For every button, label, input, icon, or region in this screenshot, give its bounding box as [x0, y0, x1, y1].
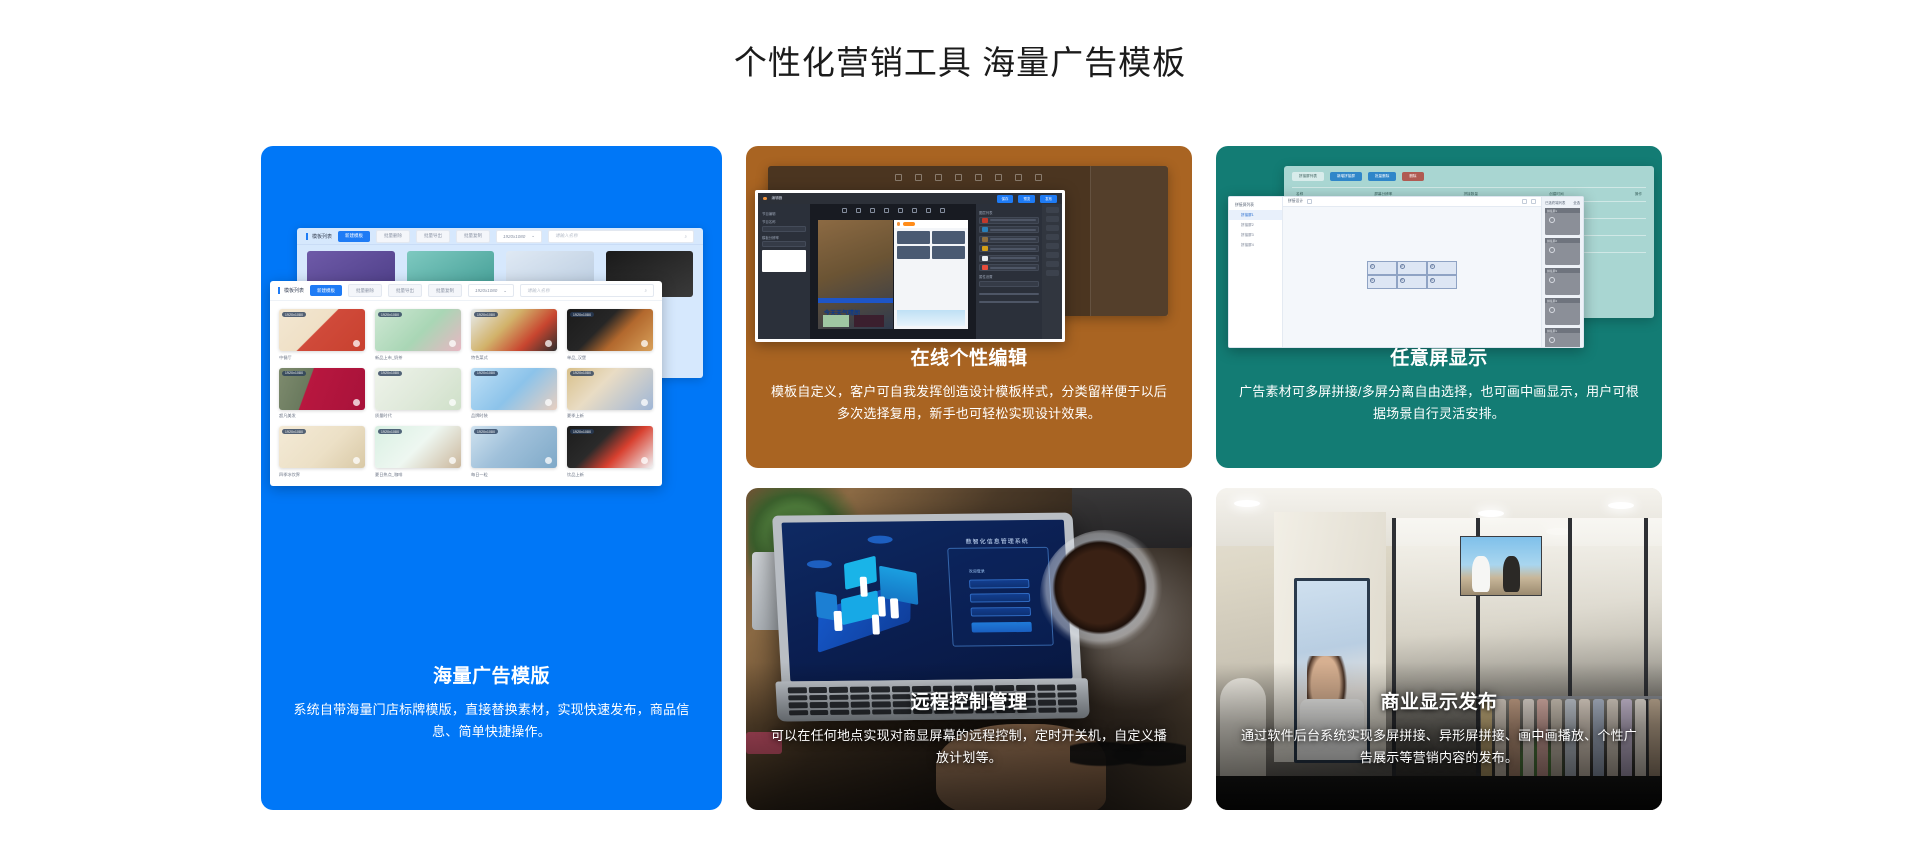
template-item[interactable]: 1920x1080 夏季上新: [567, 368, 653, 420]
layer-thumb: [982, 218, 988, 223]
editor-tool-row: [810, 204, 976, 217]
terminal-panel-header: 已选终端列表 全选: [1545, 200, 1580, 205]
template-name: 特色菜式: [471, 355, 557, 361]
thumb-badge: [449, 399, 456, 406]
login-submit-button[interactable]: [972, 622, 1033, 633]
template-item[interactable]: 1920x1080 夏日热点_咖啡: [375, 426, 461, 478]
template-thumbnail[interactable]: 1920x1080: [471, 368, 557, 410]
template-name: 每日一粒: [471, 472, 557, 478]
canvas-title: 拼接设计: [1288, 199, 1303, 204]
tree-item[interactable]: 拼接屏3: [1229, 230, 1282, 240]
batch-export-button[interactable]: 批量导出: [388, 284, 422, 297]
card-remote-control[interactable]: 数智化信息管理系统 欢迎登录: [746, 488, 1192, 810]
clock-icon: [995, 174, 1002, 181]
lock-icon[interactable]: [1046, 243, 1059, 249]
thumb-tag: 1920x1080: [474, 312, 498, 317]
divider: [1292, 187, 1646, 188]
splice-tile[interactable]: 4: [1367, 275, 1397, 289]
tree-title: 拼接屏列表: [1229, 201, 1282, 210]
illustration-person: [890, 598, 899, 618]
editor-publish-button[interactable]: 发布: [1040, 195, 1057, 203]
terminal-number-icon: [1549, 307, 1555, 313]
web-preview-grid: [894, 228, 969, 262]
property-select[interactable]: [979, 281, 1039, 287]
back-toolbar: 拼接屏列表 新增拼接屏 批量删除 删除: [1292, 172, 1646, 181]
shape-icon: [895, 174, 902, 181]
splice-tile[interactable]: 1: [1367, 261, 1397, 275]
layer-thumb: [982, 237, 988, 242]
select-all-toggle[interactable]: 全选: [1573, 200, 1580, 205]
property-slider-1[interactable]: [979, 293, 1039, 295]
terminal-card-bar: 拼接屏3: [1545, 268, 1580, 273]
terminal-card-bar: 拼接屏1: [1545, 328, 1580, 333]
card-description: 通过软件后台系统实现多屏拼接、异形屏拼接、画中画播放、个性广告展示等营销内容的发…: [1238, 725, 1640, 771]
terminal-card-bar: 拼接屏4: [1545, 298, 1580, 303]
back-batch-delete-button[interactable]: 批量删除: [376, 230, 410, 243]
account-field[interactable]: [969, 579, 1030, 589]
layer-row[interactable]: [979, 217, 1039, 224]
template-name: 中餐厅: [279, 355, 365, 361]
thumb-badge: [641, 399, 648, 406]
template-thumbnail[interactable]: 1920x1080: [567, 309, 653, 351]
undo-icon[interactable]: [1046, 261, 1059, 267]
layer-row[interactable]: [979, 264, 1039, 271]
template-thumbnail[interactable]: 1920x1080: [279, 426, 365, 468]
template-name: 单品_汉堡: [567, 355, 653, 361]
web-cell: [932, 231, 965, 244]
thumb-badge: [545, 340, 552, 347]
splice-tile[interactable]: 3: [1427, 261, 1457, 275]
field-label-resolution: 模板分辨率: [762, 235, 806, 240]
ceiling-light: [1608, 502, 1634, 509]
text-icon: [955, 174, 962, 181]
card-title: 商业显示发布: [1238, 689, 1640, 718]
login-form-title: 欢迎登录: [969, 568, 1029, 575]
template-thumbnail[interactable]: 1920x1080: [279, 368, 365, 410]
web-cell: [897, 246, 930, 259]
search-input[interactable]: 请输入名称⌕: [520, 284, 654, 297]
card-mass-ad-templates[interactable]: 模板列表 新建模板 批量删除 批量导出 批量复制 1920x1080⌄ 请输入名…: [261, 146, 722, 810]
terminal-card-bar: 拼接屏2: [1545, 238, 1580, 243]
splice-canvas-panel[interactable]: 拼接设计 1 2 3 4 5 6: [1283, 197, 1541, 347]
back-panel-title: 模板列表: [306, 233, 332, 240]
thumb-badge: [353, 457, 360, 464]
program-name-input[interactable]: [762, 226, 806, 232]
layer-name: [990, 219, 1036, 221]
back-resolution-select[interactable]: 1920x1080⌄: [496, 230, 542, 243]
web-cell: [932, 246, 965, 259]
template-gallery-front-window: 模板列表 新建模板 批量删除 批量导出 批量复制 1920x1080⌄ 请输入名…: [270, 281, 662, 486]
layer-name: [990, 229, 1036, 231]
terminal-number-icon: [1549, 247, 1555, 253]
coffee-cup: [1040, 530, 1170, 660]
canvas-photo-2: [854, 315, 884, 327]
card-caption: 在线个性编辑 模板自定义，客户可自我发挥创造设计模板样式，分类留样便于以后多次选…: [746, 345, 1192, 426]
splice-tile[interactable]: 5: [1397, 275, 1427, 289]
back-window-toolbar: 模板列表 新建模板 批量删除 批量导出 批量复制 1920x1080⌄ 请输入名…: [297, 228, 703, 245]
splice-tile-grid[interactable]: 1 2 3 4 5 6: [1367, 261, 1457, 289]
thumb-badge: [641, 457, 648, 464]
editor-save-button[interactable]: 保存: [997, 195, 1014, 203]
template-thumbnail[interactable]: 1920x1080: [471, 309, 557, 351]
editor-app: 编辑器 保存 预览 发布 节目编辑 节目名称 模板分辨率: [758, 193, 1062, 339]
weather-icon: [1015, 174, 1022, 181]
tree-item[interactable]: 拼接屏2: [1229, 220, 1282, 230]
illustration-person: [859, 577, 868, 597]
login-form[interactable]: 欢迎登录: [947, 547, 1054, 646]
template-item[interactable]: 1920x1080 新品上市_奶茶: [375, 309, 461, 361]
thumb-tag: 1920x1080: [570, 312, 594, 317]
thumb-badge: [545, 457, 552, 464]
terminal-number-icon: [1549, 217, 1555, 223]
web-preview-header: [894, 220, 969, 228]
template-thumbnail[interactable]: 1920x1080: [375, 309, 461, 351]
card-description: 广告素材可多屏拼接/多屏分离自由选择，也可画中画显示，用户可根据场景自行灵活安排…: [1238, 381, 1640, 427]
feature-card-grid: 模板列表 新建模板 批量删除 批量导出 批量复制 1920x1080⌄ 请输入名…: [261, 146, 1662, 810]
image-icon: [935, 174, 942, 181]
layer-thumb: [982, 265, 988, 270]
select-tool-icon[interactable]: [842, 208, 847, 213]
align-left-icon[interactable]: [1046, 207, 1059, 213]
thumb-tag: 1920x1080: [570, 429, 594, 434]
splice-tree-panel: 拼接屏列表 拼接屏1 拼接屏2 拼接屏3 拼接屏4: [1229, 197, 1283, 347]
terminal-card[interactable]: 拼接屏3: [1545, 268, 1580, 295]
card-caption: 商业显示发布 通过软件后台系统实现多屏拼接、异形屏拼接、画中画播放、个性广告展示…: [1216, 689, 1662, 770]
back-batch-export-button[interactable]: 批量导出: [416, 230, 450, 243]
template-thumbnail[interactable]: 1920x1080: [567, 426, 653, 468]
web-preview-footer: [897, 310, 966, 326]
template-item[interactable]: 1920x1080 质量时代: [375, 368, 461, 420]
card-caption: 远程控制管理 可以在任何地点实现对商显屏幕的远程控制，定时开关机，自定义播放计划…: [746, 689, 1192, 770]
laptop-screen: 数智化信息管理系统 欢迎登录: [782, 520, 1073, 682]
banner-model-light: [1472, 556, 1490, 592]
terminal-card-label: 拼接屏3: [1547, 269, 1557, 273]
card-online-editor[interactable]: 编辑器 保存 预览 发布 节目编辑 节目名称 模板分辨率: [746, 146, 1192, 468]
editor-front-window: 编辑器 保存 预览 发布 节目编辑 节目名称 模板分辨率: [755, 190, 1065, 342]
splice-tile[interactable]: 6: [1427, 275, 1457, 289]
distribute-icon[interactable]: [1046, 234, 1059, 240]
layer-thumb: [982, 227, 988, 232]
field-label-program-name: 节目名称: [762, 219, 806, 224]
web-cell: [897, 231, 930, 244]
card-caption: 海量广告模版 系统自带海量门店标牌模版，直接替换素材，实现快速发布，商品信息、简…: [261, 663, 722, 744]
editor-back-sidebar: [1090, 166, 1168, 316]
layer-thumb: [982, 246, 988, 251]
redo-icon[interactable]: [1046, 270, 1059, 276]
clock-tool-icon[interactable]: [912, 208, 917, 213]
terminal-card-label: 拼接屏2: [1547, 239, 1557, 243]
overhead-signage-banner: [1460, 536, 1542, 596]
text-tool-icon[interactable]: [884, 208, 889, 213]
template-name: 四季冰饮界: [279, 472, 365, 478]
thumb-badge: [353, 399, 360, 406]
tree-item[interactable]: 拼接屏4: [1229, 240, 1282, 250]
thumb-badge: [641, 340, 648, 347]
video-tool-icon[interactable]: [898, 208, 903, 213]
thumb-badge: [353, 340, 360, 347]
terminal-card-label: 拼接屏4: [1547, 299, 1557, 303]
template-thumbnail[interactable]: 1920x1080: [279, 309, 365, 351]
template-item[interactable]: 1920x1080 四季冰饮界: [279, 426, 365, 478]
left-panel-title: 节目编辑: [762, 211, 806, 216]
card-any-screen-display[interactable]: 拼接屏列表 新增拼接屏 批量删除 删除 名称 屏幕分辨率 拼接数量 创建时间 操…: [1216, 146, 1662, 468]
new-template-button[interactable]: 新建模板: [310, 285, 342, 296]
editor-far-panel: [1042, 204, 1062, 339]
star-icon: [915, 174, 922, 181]
template-item[interactable]: 1920x1080 单品_汉堡: [567, 309, 653, 361]
template-item[interactable]: 1920x1080 超凡美发: [279, 368, 365, 420]
illustration-person: [834, 611, 843, 631]
template-item[interactable]: 1920x1080 中餐厅: [279, 309, 365, 361]
card-description: 可以在任何地点实现对商显屏幕的远程控制，定时开关机，自定义播放计划等。: [768, 725, 1170, 771]
editor-titlebar: 编辑器 保存 预览 发布: [758, 193, 1062, 204]
card-title: 任意屏显示: [1238, 345, 1640, 374]
splice-tile[interactable]: 2: [1397, 261, 1427, 275]
template-thumbnail[interactable]: 1920x1080: [375, 426, 461, 468]
isometric-illustration: [806, 553, 936, 653]
front-panel-title: 模板列表: [278, 287, 304, 294]
template-name: 新品上市_奶茶: [375, 355, 461, 361]
thumb-tag: 1920x1080: [570, 371, 594, 376]
tile-number: 2: [1400, 264, 1405, 269]
delete-icon[interactable]: [1531, 199, 1536, 204]
selected-terminal-panel: 已选终端列表 全选 拼接屏1 拼接屏2 拼接屏3 拼接屏4 拼接屏1: [1541, 197, 1583, 347]
ceiling-light: [1234, 500, 1260, 507]
canvas-web-preview[interactable]: [894, 220, 969, 329]
layer-name: [990, 267, 1036, 269]
web-pill: [903, 222, 915, 226]
tree-item[interactable]: 拼接屏1: [1229, 210, 1282, 220]
back-new-template-button[interactable]: 新建模板: [338, 231, 370, 242]
delete-button[interactable]: 删除: [1402, 172, 1423, 181]
card-title: 海量广告模版: [283, 663, 700, 692]
thumb-tag: 1920x1080: [378, 312, 402, 317]
terminal-number-icon: [1549, 337, 1555, 343]
template-name: 夏季上新: [567, 413, 653, 419]
thumb-tag: 1920x1080: [282, 371, 306, 376]
front-window-toolbar: 模板列表 新建模板 批量删除 批量导出 批量复制 1920x1080⌄ 请输入名…: [270, 281, 662, 301]
thumb-tag: 1920x1080: [378, 371, 402, 376]
resolution-select[interactable]: [762, 241, 806, 247]
layer-row[interactable]: [979, 255, 1039, 262]
terminal-number-icon: [1549, 277, 1555, 283]
thumbnail-preview: [762, 250, 806, 272]
thumb-badge: [449, 340, 456, 347]
editor-canvas[interactable]: 今天天气晴朗: [818, 220, 968, 329]
property-slider-2[interactable]: [979, 301, 1039, 303]
thumb-tag: 1920x1080: [474, 429, 498, 434]
canvas-strip: [818, 298, 893, 303]
layout-icon[interactable]: [1307, 199, 1312, 204]
banner-model-dark: [1503, 556, 1521, 592]
editor-body: 节目编辑 节目名称 模板分辨率: [758, 204, 1062, 339]
batch-delete-button[interactable]: 批量删除: [348, 284, 382, 297]
card-description: 模板自定义，客户可自我发挥创造设计模板样式，分类留样便于以后多次选择复用，新手也…: [768, 381, 1170, 427]
terminal-card[interactable]: 拼接屏2: [1545, 238, 1580, 265]
thumb-tag: 1920x1080: [282, 429, 306, 434]
weather-tool-icon[interactable]: [926, 208, 931, 213]
web-tool-icon[interactable]: [940, 208, 945, 213]
col-actions: 操作: [1635, 192, 1642, 197]
layer-row[interactable]: [979, 236, 1039, 243]
editor-layers-panel: 图层列表 属性设置: [976, 204, 1042, 339]
image-tool-icon[interactable]: [870, 208, 875, 213]
template-item[interactable]: 1920x1080 每日一粒: [471, 426, 557, 478]
splice-front-window: 拼接屏列表 拼接屏1 拼接屏2 拼接屏3 拼接屏4 拼接设计 1: [1228, 196, 1584, 348]
tile-number: 4: [1370, 278, 1375, 283]
thumb-tag: 1920x1080: [474, 371, 498, 376]
canvas-toolbar: 拼接设计: [1283, 197, 1541, 207]
template-name: 夏日热点_咖啡: [375, 472, 461, 478]
terminal-card-label: 拼接屏1: [1547, 329, 1557, 333]
card-title: 远程控制管理: [768, 689, 1170, 718]
page-title: 个性化营销工具 海量广告模板: [0, 42, 1920, 85]
template-thumbnail[interactable]: 1920x1080: [567, 368, 653, 410]
site-logo-icon: [897, 222, 901, 226]
add-splice-screen-button[interactable]: 新增拼接屏: [1330, 172, 1362, 181]
layer-name: [990, 257, 1036, 259]
template-name: 质量时代: [375, 413, 461, 419]
captcha-field[interactable]: [971, 607, 1032, 617]
thumb-tag: 1920x1080: [282, 312, 306, 317]
layer-name: [990, 248, 1036, 250]
layers-panel-title: 图层列表: [979, 210, 1039, 215]
marketing-feature-page: 个性化营销工具 海量广告模板 模板列表 新建模板 批量删除 批量导出 批量复制 …: [0, 0, 1920, 864]
editor-preview-button[interactable]: 预览: [1018, 195, 1035, 203]
editor-left-panel: 节目编辑 节目名称 模板分辨率: [758, 204, 810, 339]
terminal-card[interactable]: 拼接屏4: [1545, 298, 1580, 325]
ceiling-light: [1478, 510, 1504, 517]
layer-row[interactable]: [979, 245, 1039, 252]
template-name: 饮品上新: [567, 472, 653, 478]
terminal-card-label: 拼接屏1: [1547, 209, 1557, 213]
align-center-icon[interactable]: [1046, 216, 1059, 222]
card-description: 系统自带海量门店标牌模版，直接替换素材，实现快速发布，商品信息、简单快捷操作。: [283, 699, 700, 745]
fullscreen-icon[interactable]: [1522, 199, 1527, 204]
editor-app-name: 编辑器: [772, 196, 783, 201]
tile-number: 3: [1430, 264, 1435, 269]
layer-thumb: [982, 256, 988, 261]
template-name: 品牌时装: [471, 413, 557, 419]
canvas-left-media[interactable]: 今天天气晴朗: [818, 220, 893, 329]
card-caption: 任意屏显示 广告素材可多屏拼接/多屏分离自由选择，也可画中画显示，用户可根据场景…: [1216, 345, 1662, 426]
layer-row[interactable]: [979, 226, 1039, 233]
thumb-badge: [545, 399, 552, 406]
editor-canvas-area[interactable]: 今天天气晴朗: [810, 204, 976, 339]
group-icon[interactable]: [1046, 252, 1059, 258]
template-item[interactable]: 1920x1080 特色菜式: [471, 309, 557, 361]
thumb-tag: 1920x1080: [378, 429, 402, 434]
batch-copy-button[interactable]: 批量复制: [428, 284, 462, 297]
app-logo-icon: [763, 197, 767, 201]
template-grid: 1920x1080 中餐厅 1920x1080 新品上市_奶茶: [270, 301, 662, 486]
terminal-panel-title: 已选终端列表: [1545, 200, 1565, 205]
video-icon: [975, 174, 982, 181]
back-search-input[interactable]: 请输入名称⌕: [548, 230, 694, 243]
cloud-icon: [867, 536, 893, 544]
resolution-select[interactable]: 1920x1080⌄: [468, 284, 514, 297]
terminal-card-bar: 拼接屏1: [1545, 208, 1580, 213]
canvas-photo-1: [823, 315, 849, 327]
back-breadcrumb: 拼接屏列表: [1292, 172, 1324, 181]
back-batch-copy-button[interactable]: 批量复制: [456, 230, 490, 243]
template-name: 超凡美发: [279, 413, 365, 419]
terminal-card[interactable]: 拼接屏1: [1545, 208, 1580, 235]
system-title: 数智化信息管理系统: [946, 536, 1048, 546]
tile-number: 6: [1430, 278, 1435, 283]
property-panel-title: 属性设置: [979, 274, 1039, 279]
tile-number: 1: [1370, 264, 1375, 269]
shape-tool-icon[interactable]: [856, 208, 861, 213]
template-item[interactable]: 1920x1080 饮品上新: [567, 426, 653, 478]
card-commercial-display[interactable]: 商业显示发布 通过软件后台系统实现多屏拼接、异形屏拼接、画中画播放、个性广告展示…: [1216, 488, 1662, 810]
illustration-person: [871, 614, 880, 634]
template-thumbnail[interactable]: 1920x1080: [471, 426, 557, 468]
layer-name: [990, 238, 1036, 240]
web-icon: [1035, 174, 1042, 181]
tile-number: 5: [1400, 278, 1405, 283]
template-item[interactable]: 1920x1080 品牌时装: [471, 368, 557, 420]
card-title: 在线个性编辑: [768, 345, 1170, 374]
password-field[interactable]: [970, 593, 1031, 603]
thumb-badge: [449, 457, 456, 464]
align-right-icon[interactable]: [1046, 225, 1059, 231]
template-thumbnail[interactable]: 1920x1080: [375, 368, 461, 410]
batch-delete-button[interactable]: 批量删除: [1368, 172, 1396, 181]
